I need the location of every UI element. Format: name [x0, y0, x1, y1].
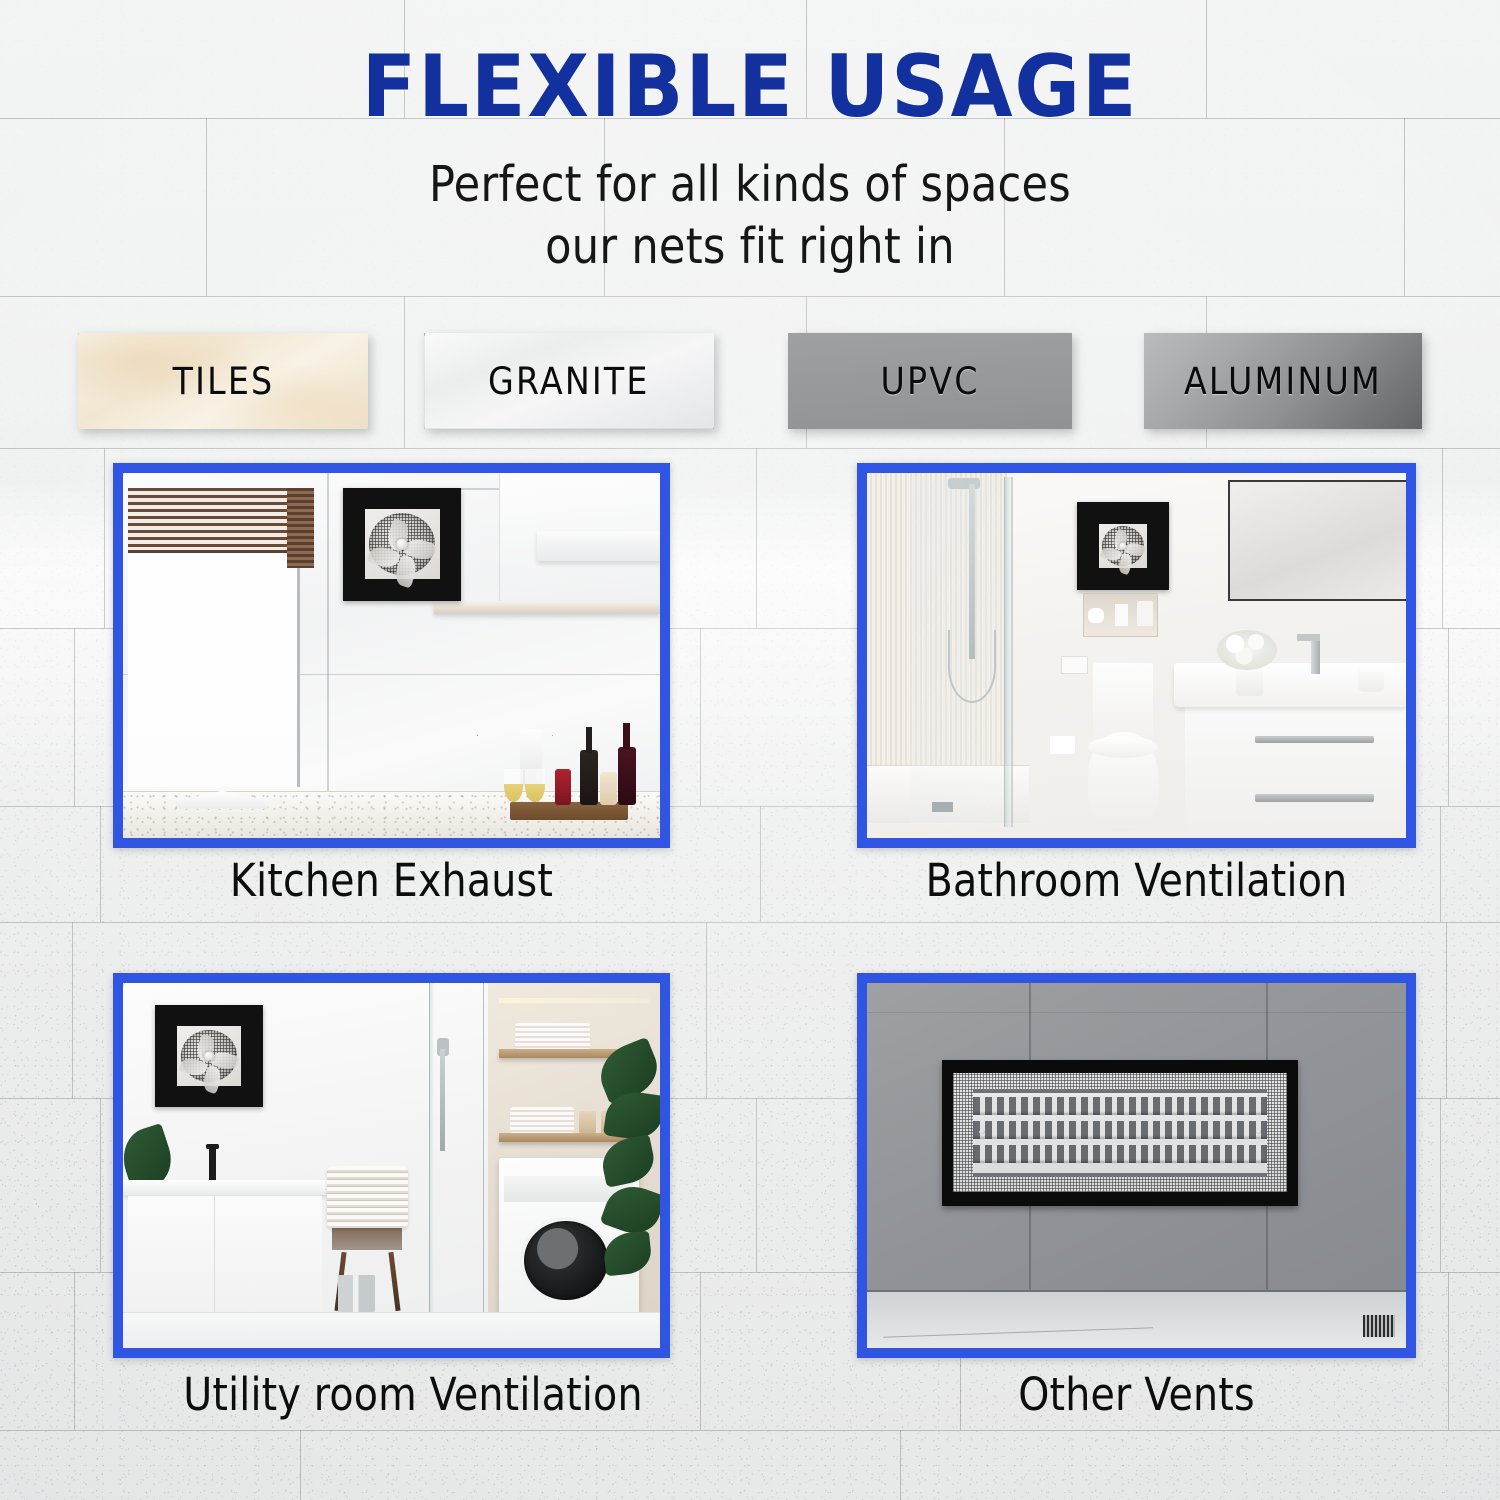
- exhaust-fan-icon: [155, 1005, 262, 1107]
- photo-frame-bathroom: [857, 463, 1416, 848]
- vent-mesh-net: [942, 1060, 1298, 1206]
- range-hood: [537, 531, 661, 560]
- page-subtitle: Perfect for all kinds of spaces our nets…: [90, 154, 1410, 277]
- caption-bathroom: Bathroom Ventilation: [891, 858, 1383, 903]
- flower-vase: [1217, 630, 1276, 670]
- photo-card-other-vents: [857, 973, 1416, 1358]
- photo-card-bathroom: [857, 463, 1416, 848]
- floor-bracket: [1363, 1315, 1395, 1337]
- subtitle-line-2: our nets fit right in: [90, 216, 1410, 278]
- caption-utility: Utility room Ventilation: [149, 1372, 677, 1417]
- vanity-cabinet: [128, 1195, 321, 1315]
- subtitle-line-1: Perfect for all kinds of spaces: [90, 154, 1410, 216]
- photo-bathroom: [867, 473, 1406, 838]
- mirror-cabinet: [1228, 480, 1406, 600]
- window-blind-icon: [128, 488, 308, 554]
- shower-glass-panel: [910, 477, 1012, 827]
- wine-bottle: [580, 750, 598, 805]
- infographic-page: FLEXIBLE USAGE Perfect for all kinds of …: [0, 0, 1500, 1500]
- page-title: FLEXIBLE USAGE: [53, 44, 1448, 130]
- material-swatch-granite: GRANITE: [424, 333, 714, 429]
- material-label-tiles: TILES: [172, 360, 274, 403]
- vanity-cabinet: [1185, 692, 1406, 838]
- faucet: [1311, 634, 1320, 674]
- photo-card-utility: [113, 973, 670, 1358]
- caption-kitchen: Kitchen Exhaust: [146, 858, 636, 903]
- photo-frame-utility: [113, 973, 670, 1358]
- material-swatch-upvc: UPVC: [788, 333, 1072, 429]
- exhaust-fan-icon: [343, 488, 461, 601]
- shower-glass-panel: [429, 983, 434, 1348]
- potted-plant: [553, 1034, 660, 1326]
- material-label-aluminum: ALUMINUM: [1184, 360, 1382, 403]
- wine-glass: [525, 769, 544, 802]
- faucet: [209, 1144, 217, 1181]
- photo-card-kitchen: [113, 463, 670, 848]
- header: FLEXIBLE USAGE Perfect for all kinds of …: [0, 0, 1500, 277]
- photo-frame-other-vents: [857, 973, 1416, 1358]
- wine-glass: [504, 769, 523, 802]
- material-swatch-tiles: TILES: [78, 333, 368, 429]
- material-label-upvc: UPVC: [880, 360, 979, 403]
- photo-kitchen: [123, 473, 660, 838]
- exhaust-fan-icon: [1077, 502, 1169, 590]
- material-swatch-row: TILES GRANITE UPVC ALUMINUM: [0, 333, 1500, 429]
- folded-towels: [327, 1166, 408, 1228]
- material-swatch-aluminum: ALUMINUM: [1144, 333, 1422, 429]
- vent-grille: [973, 1089, 1267, 1177]
- caption-other-vents: Other Vents: [891, 1372, 1383, 1417]
- photo-other-vents: [867, 983, 1406, 1348]
- material-label-granite: GRANITE: [488, 360, 650, 403]
- photo-utility: [123, 983, 660, 1348]
- photo-frame-kitchen: [113, 463, 670, 848]
- wine-bottle: [618, 747, 636, 805]
